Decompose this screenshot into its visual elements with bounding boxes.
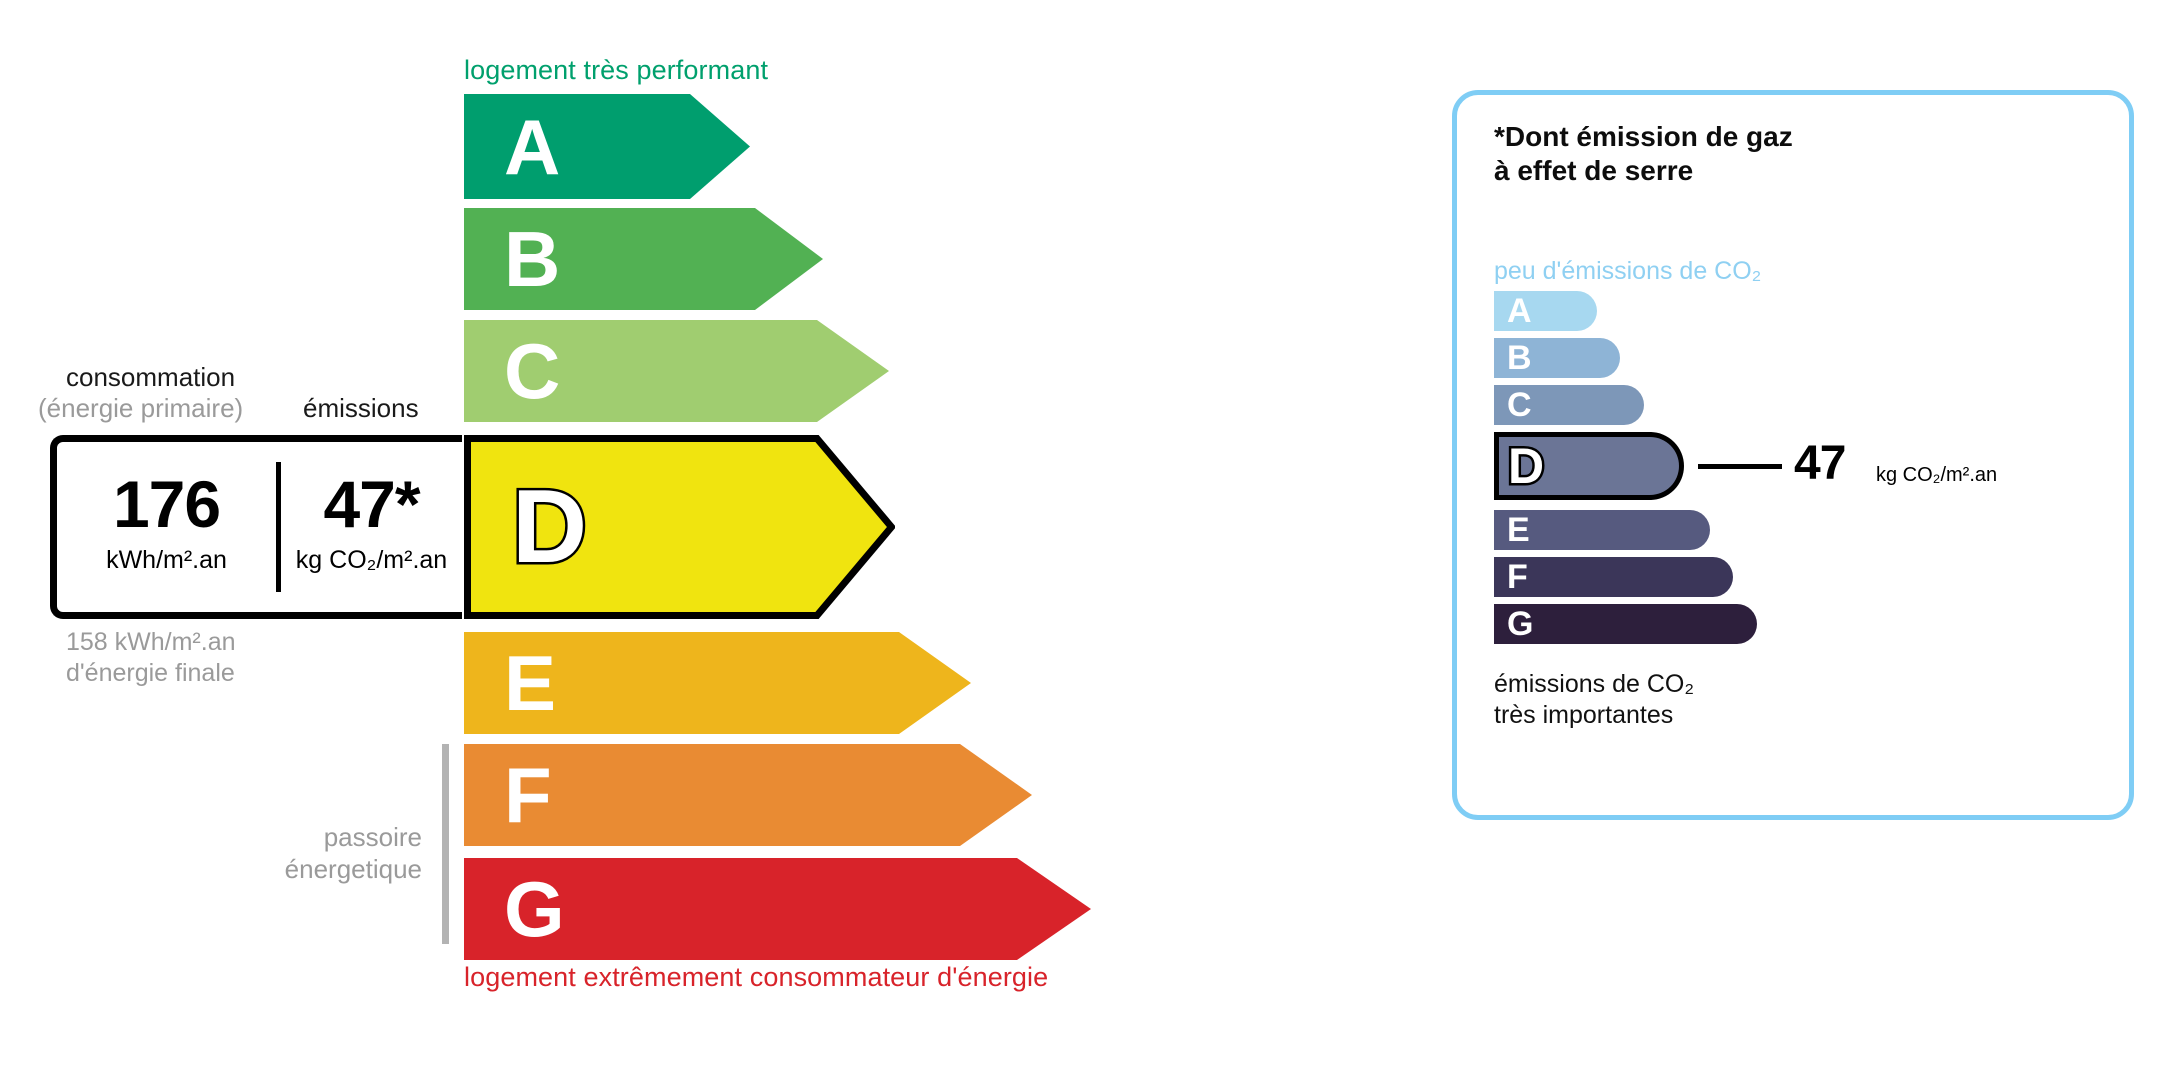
co2-bar-c: C <box>1494 385 1644 425</box>
passoire-label: passoire énergetique <box>150 821 422 885</box>
co2-top-caption: peu d'émissions de CO₂ <box>1494 257 1761 286</box>
energy-arrow-e: E <box>464 632 971 734</box>
energy-arrow-g: G <box>464 858 1091 960</box>
co2-letter-c: C <box>1507 388 1532 422</box>
arrow-shape-a: A <box>464 94 750 199</box>
co2-bar-d-selected: D <box>1494 432 1684 500</box>
energy-arrow-f: F <box>464 744 1032 846</box>
co2-letter-e: E <box>1507 513 1530 547</box>
arrow-shape-d: D <box>464 435 895 619</box>
energy-performance-scale: logement très performant A B C D E F G l… <box>0 0 1420 1079</box>
energy-arrow-b: B <box>464 208 823 310</box>
co2-panel-title: *Dont émission de gaz à effet de serre <box>1494 120 1793 188</box>
co2-leader-line <box>1698 464 1782 469</box>
co2-selected-value-unit: kg CO₂/m².an <box>1876 464 1997 487</box>
emissions-cell: 47* kg CO₂/m².an <box>281 472 462 575</box>
arrow-shape-b: B <box>464 208 823 310</box>
primary-energy-value: 176 <box>57 472 276 537</box>
energy-arrow-a: A <box>464 94 750 199</box>
energy-arrow-d-selected: D <box>464 435 895 619</box>
label-energie-primaire: (énergie primaire) <box>38 393 243 424</box>
co2-selected-value: 47 <box>1794 440 1845 488</box>
final-energy-note: 158 kWh/m².an d'énergie finale <box>66 627 236 688</box>
consumption-value-box: 176 kWh/m².an 47* kg CO₂/m².an <box>50 435 462 619</box>
arrow-shape-g: G <box>464 858 1091 960</box>
co2-letter-b: B <box>1507 341 1532 375</box>
passoire-bracket <box>442 744 449 944</box>
co2-bar-shape-f <box>1494 557 1733 597</box>
label-emissions: émissions <box>303 393 419 424</box>
co2-selected-left-edge <box>1494 432 1499 500</box>
scale-top-caption: logement très performant <box>464 55 768 86</box>
arrow-shape-f: F <box>464 744 1032 846</box>
co2-letter-f: F <box>1507 560 1528 594</box>
co2-bar-e: E <box>1494 510 1710 550</box>
co2-letter-g: G <box>1507 607 1533 641</box>
co2-bar-g: G <box>1494 604 1757 644</box>
co2-letter-d: D <box>1508 441 1544 491</box>
primary-energy-cell: 176 kWh/m².an <box>57 472 276 575</box>
co2-bar-f: F <box>1494 557 1733 597</box>
arrow-shape-e: E <box>464 632 971 734</box>
co2-bottom-caption: émissions de CO₂ très importantes <box>1494 669 1694 730</box>
emissions-unit: kg CO₂/m².an <box>281 546 462 575</box>
scale-bottom-caption: logement extrêmement consommateur d'éner… <box>464 962 1048 993</box>
co2-letter-a: A <box>1507 294 1532 328</box>
co2-emissions-panel: *Dont émission de gaz à effet de serre p… <box>1452 90 2134 820</box>
co2-bar-b: B <box>1494 338 1620 378</box>
energy-arrow-c: C <box>464 320 889 422</box>
primary-energy-unit: kWh/m².an <box>57 546 276 575</box>
emissions-value: 47* <box>281 472 462 537</box>
co2-bar-a: A <box>1494 291 1597 331</box>
arrow-shape-c: C <box>464 320 889 422</box>
label-consommation: consommation <box>66 362 235 393</box>
